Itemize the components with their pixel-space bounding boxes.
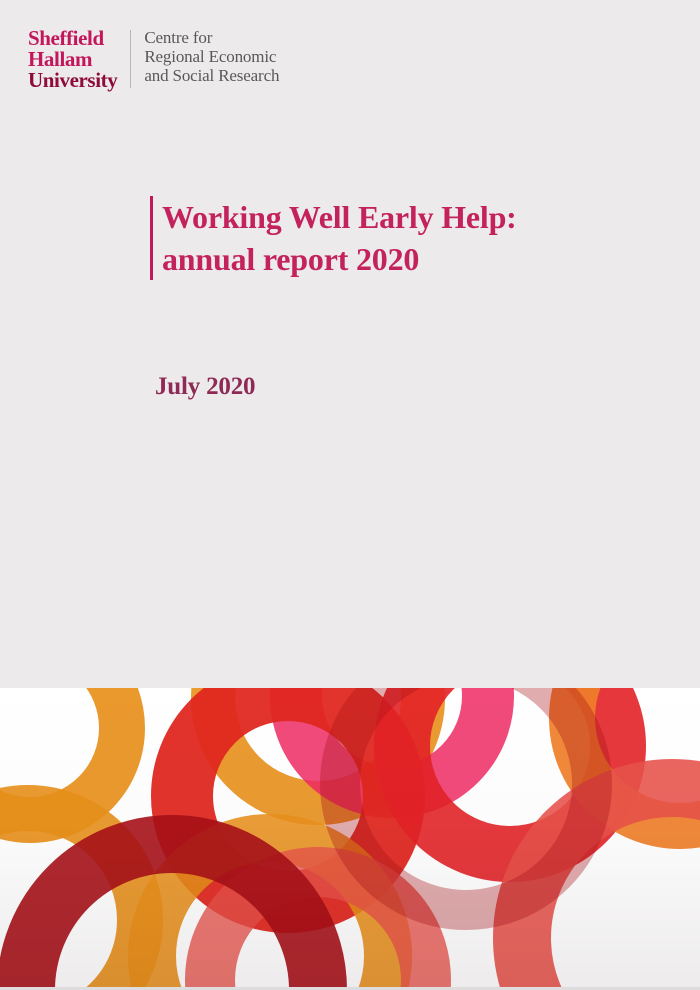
centre-name: Centre for Regional Economic and Social …: [131, 28, 279, 85]
rings-svg: [0, 688, 700, 990]
overlapping-rings-artwork: [0, 688, 700, 990]
publication-date: July 2020: [155, 373, 255, 401]
title-line-2: annual report 2020: [162, 238, 517, 280]
centre-line-1: Centre for: [144, 28, 279, 47]
centre-line-2: Regional Economic: [144, 47, 279, 66]
report-cover: Sheffield Hallam University Centre for R…: [0, 0, 700, 990]
logo-line-hallam: Hallam: [28, 49, 117, 70]
logo-line-university: University: [28, 70, 117, 91]
title-text: Working Well Early Help: annual report 2…: [153, 196, 517, 280]
centre-line-3: and Social Research: [144, 66, 279, 85]
title-line-1: Working Well Early Help:: [162, 196, 517, 238]
sheffield-hallam-logo: Sheffield Hallam University Centre for R…: [28, 28, 279, 90]
university-wordmark: Sheffield Hallam University: [28, 28, 130, 90]
page-title: Working Well Early Help: annual report 2…: [150, 196, 517, 280]
logo-line-sheffield: Sheffield: [28, 28, 117, 49]
